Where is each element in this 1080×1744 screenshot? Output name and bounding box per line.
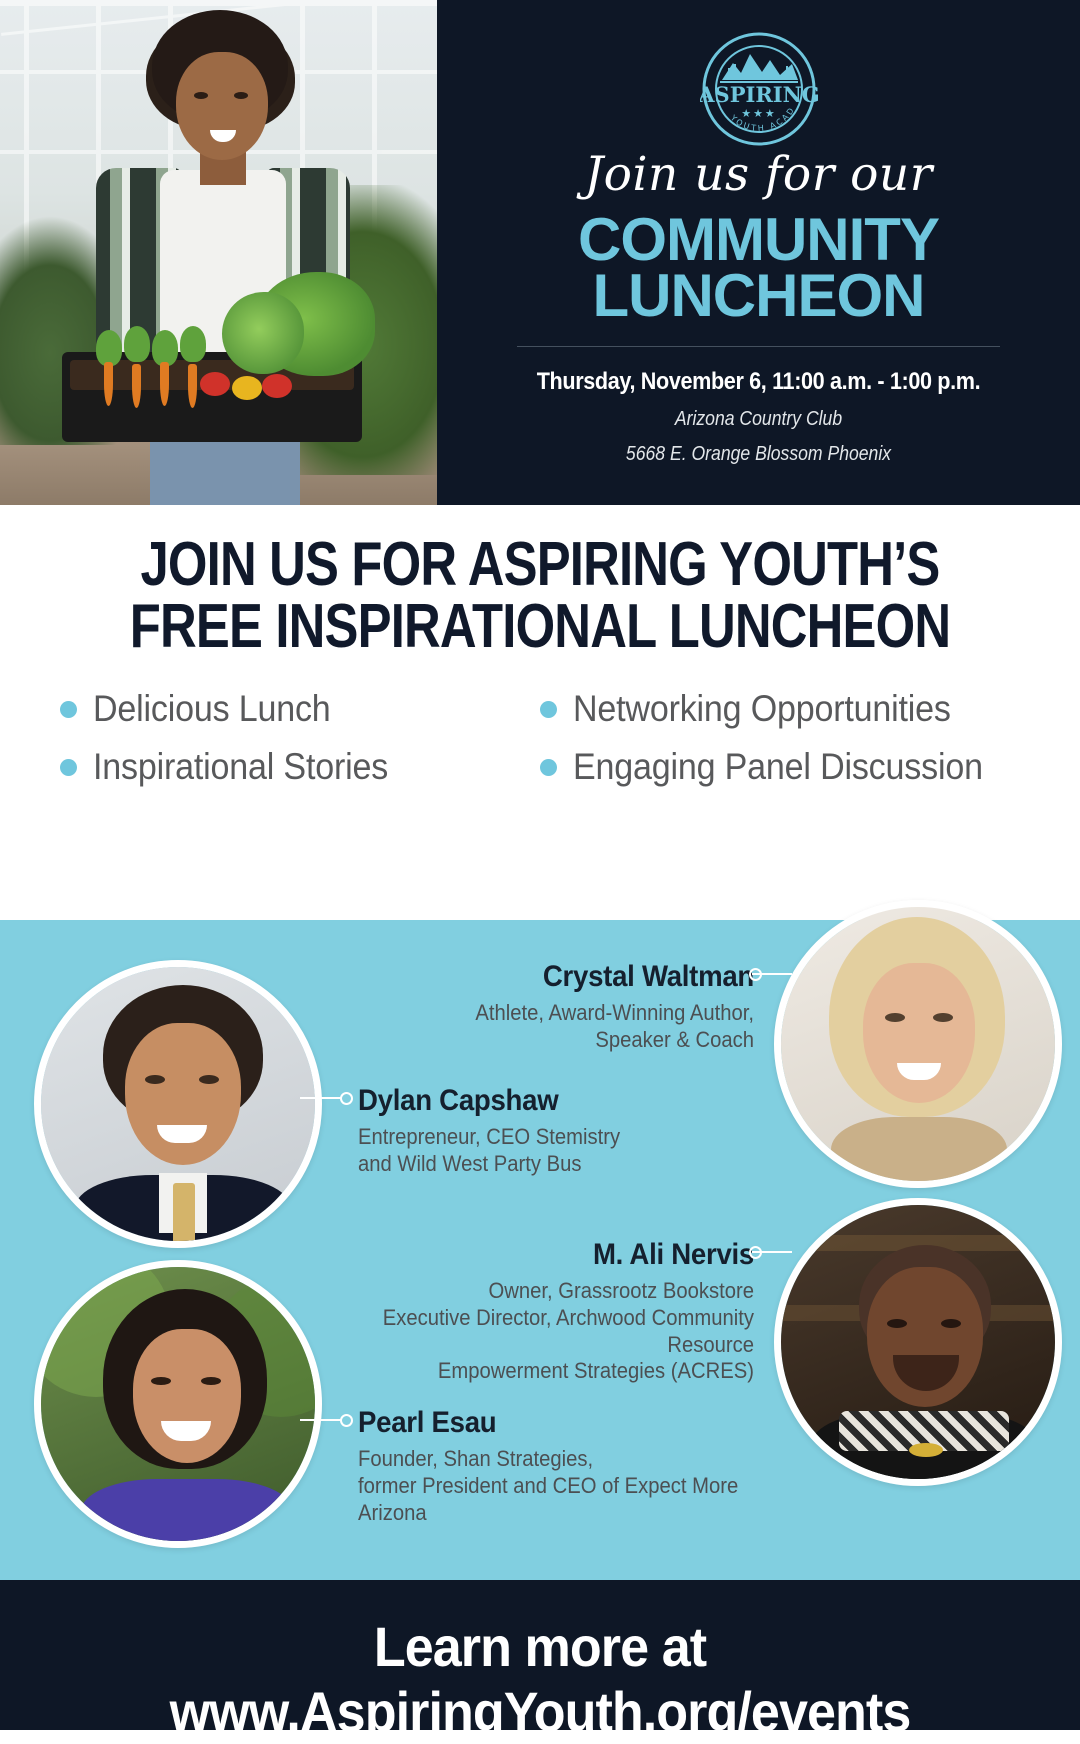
- hero-title-line2: LUNCHEON: [437, 266, 1080, 326]
- carrot-top: [180, 326, 206, 362]
- speaker-photo-m-ali-nervis: [774, 1198, 1062, 1486]
- divider: [517, 346, 1000, 347]
- speaker-name-dylan-capshaw: Dylan Capshaw: [358, 1084, 744, 1118]
- bullet-dot-icon: [540, 759, 557, 776]
- list-item: Delicious Lunch: [60, 680, 540, 738]
- benefit-label: Networking Opportunities: [573, 688, 951, 730]
- event-venue: Arizona Country Club: [476, 408, 1042, 431]
- connector-knob: [749, 968, 762, 981]
- speaker-role-line: Executive Director, Archwood Community R…: [368, 1305, 754, 1359]
- intro-section: JOIN US FOR ASPIRING YOUTH’S FREE INSPIR…: [0, 505, 1080, 920]
- speaker-photo-dylan-capshaw: [34, 960, 322, 1248]
- benefits-list: Delicious Lunch Networking Opportunities…: [60, 680, 1020, 796]
- connector-line: [300, 1419, 342, 1421]
- benefit-label: Engaging Panel Discussion: [573, 746, 983, 788]
- list-item: Engaging Panel Discussion: [540, 738, 1020, 796]
- bullet-dot-icon: [60, 759, 77, 776]
- list-item: Networking Opportunities: [540, 680, 1020, 738]
- red-pepper: [200, 372, 230, 396]
- speaker-role-line: Entrepreneur, CEO Stemistry: [358, 1124, 744, 1151]
- speaker-role-line: Founder, Shan Strategies,: [358, 1446, 781, 1473]
- speaker-photo-pearl-esau: [34, 1260, 322, 1548]
- speaker-role-m-ali-nervis: Owner, Grassrootz Bookstore Executive Di…: [368, 1278, 754, 1385]
- hero-script-line: Join us for our: [437, 147, 1080, 202]
- speaker-photo-crystal-waltman: [774, 900, 1062, 1188]
- svg-text:ASPIRING: ASPIRING: [700, 82, 818, 107]
- speaker-name-pearl-esau: Pearl Esau: [358, 1406, 781, 1440]
- benefit-label: Delicious Lunch: [93, 688, 331, 730]
- connector-line: [300, 1097, 342, 1099]
- hero-photo: [0, 0, 437, 505]
- hero-section: ASPIRING ★★★ YOUTH ACADEMY Join us for o…: [0, 0, 1080, 505]
- yellow-pepper: [232, 376, 262, 400]
- speaker-panel-section: Crystal Waltman Athlete, Award-Winning A…: [0, 920, 1080, 1580]
- connector-knob: [340, 1414, 353, 1427]
- red-pepper: [262, 374, 292, 398]
- hero-title-line1: COMMUNITY: [437, 210, 1080, 270]
- speaker-role-line: former President and CEO of Expect More …: [358, 1473, 781, 1527]
- carrot-top: [124, 326, 150, 362]
- carrot: [188, 364, 197, 408]
- event-address: 5668 E. Orange Blossom Phoenix: [476, 443, 1042, 466]
- speaker-role-line: Athlete, Award-Winning Author,: [450, 1000, 754, 1027]
- benefit-label: Inspirational Stories: [93, 746, 388, 788]
- speaker-name-crystal-waltman: Crystal Waltman: [450, 960, 754, 994]
- list-item: Inspirational Stories: [60, 738, 540, 796]
- footer-cta-url[interactable]: Learn more at www.AspiringYouth.org/even…: [38, 1614, 1042, 1744]
- speaker-role-crystal-waltman: Athlete, Award-Winning Author, Speaker &…: [450, 1000, 754, 1054]
- speaker-role-dylan-capshaw: Entrepreneur, CEO Stemistry and Wild Wes…: [358, 1124, 744, 1178]
- carrot: [160, 362, 169, 406]
- bullet-dot-icon: [540, 701, 557, 718]
- speaker-role-pearl-esau: Founder, Shan Strategies, former Preside…: [358, 1446, 781, 1526]
- intro-headline-line1: JOIN US FOR ASPIRING YOUTH’S: [97, 533, 983, 597]
- carrot-top: [152, 330, 178, 366]
- carrot: [104, 362, 113, 406]
- footer-section: Learn more at www.AspiringYouth.org/even…: [0, 1580, 1080, 1730]
- event-flyer: ASPIRING ★★★ YOUTH ACADEMY Join us for o…: [0, 0, 1080, 1730]
- svg-text:★★★: ★★★: [741, 107, 777, 120]
- leafy-greens-2: [222, 292, 304, 374]
- speaker-role-line: Empowerment Strategies (ACRES): [368, 1358, 754, 1385]
- speaker-role-line: and Wild West Party Bus: [358, 1151, 744, 1178]
- carrot: [132, 364, 141, 408]
- speaker-role-line: Speaker & Coach: [450, 1027, 754, 1054]
- speaker-panel-heading-text: SPEAKER PANEL: [329, 793, 752, 843]
- speaker-name-m-ali-nervis: M. Ali Nervis: [368, 1238, 754, 1272]
- aspiring-youth-academy-logo: ASPIRING ★★★ YOUTH ACADEMY: [700, 30, 818, 148]
- connector-knob: [340, 1092, 353, 1105]
- connector-knob: [749, 1246, 762, 1259]
- hero-text-panel: ASPIRING ★★★ YOUTH ACADEMY Join us for o…: [437, 0, 1080, 505]
- face: [176, 52, 268, 160]
- event-datetime: Thursday, November 6, 11:00 a.m. - 1:00 …: [469, 368, 1048, 396]
- speaker-role-line: Owner, Grassrootz Bookstore: [368, 1278, 754, 1305]
- bullet-dot-icon: [60, 701, 77, 718]
- intro-headline-line2: FREE INSPIRATIONAL LUNCHEON: [97, 595, 983, 659]
- speaker-panel-heading: SPEAKER PANEL: [0, 793, 1080, 843]
- carrot-top: [96, 330, 122, 366]
